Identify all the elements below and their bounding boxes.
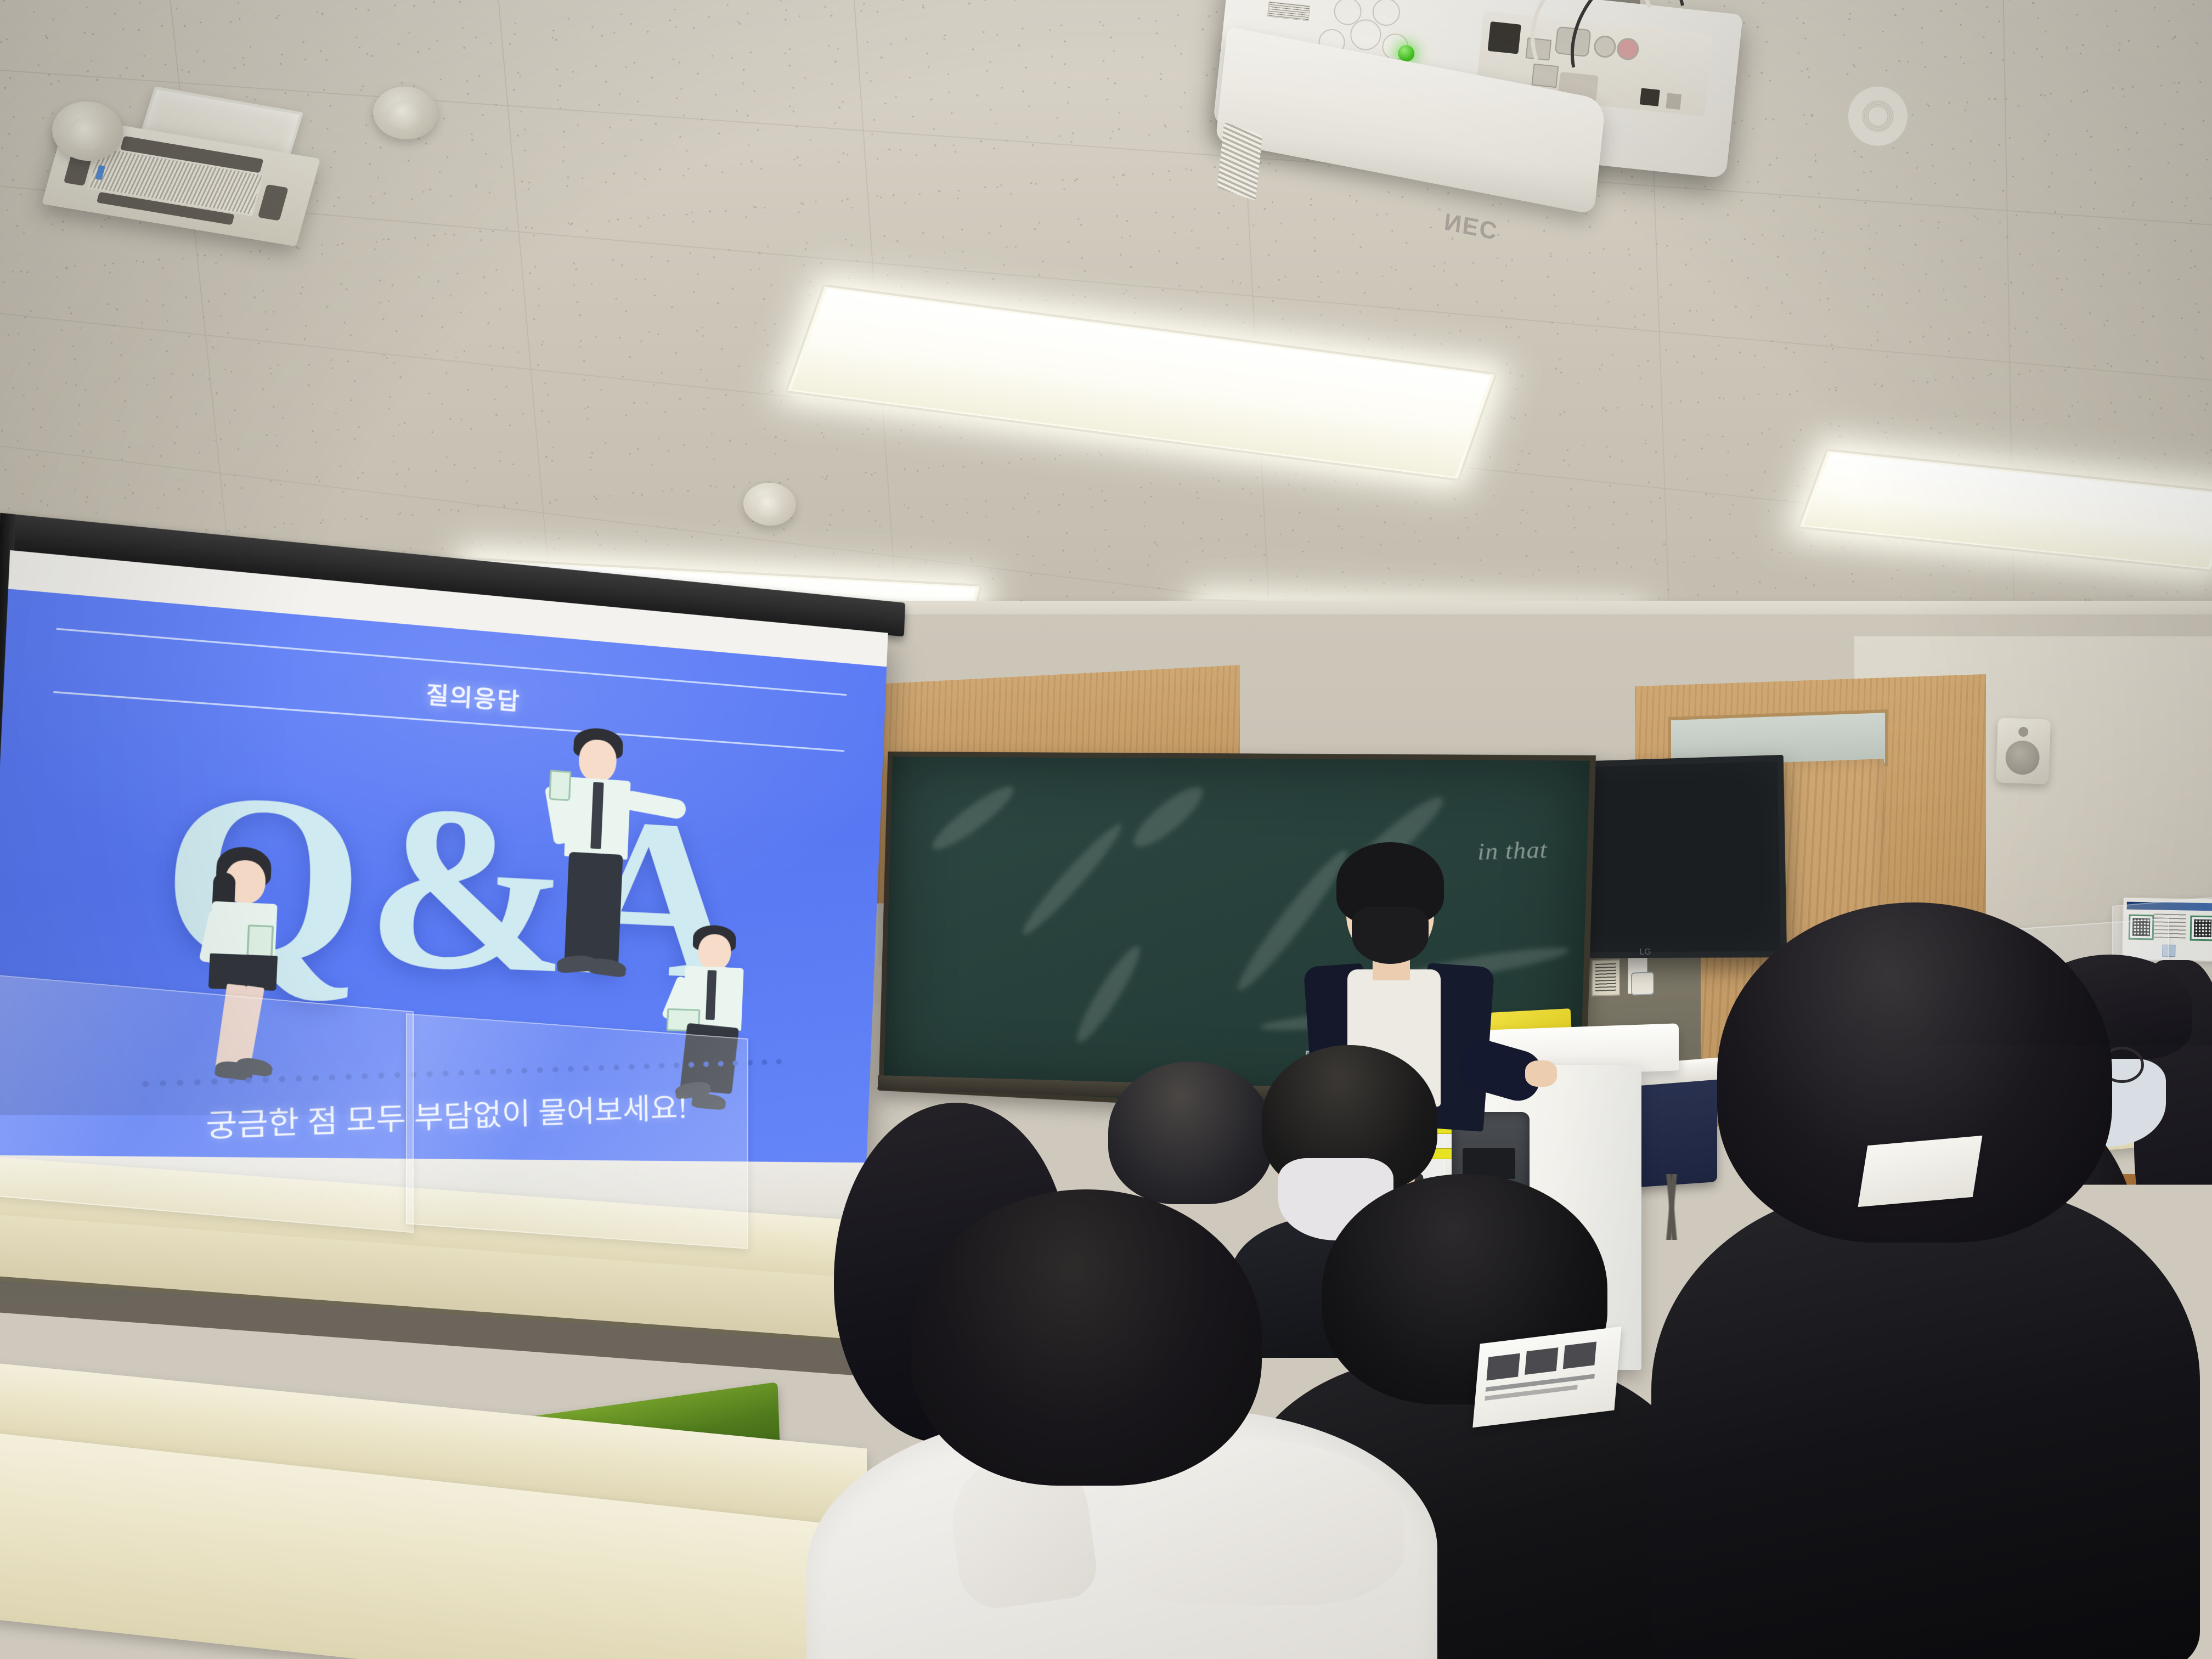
paper-sheet — [1858, 1136, 1983, 1207]
projector-label — [1267, 2, 1311, 21]
wall-speaker — [1996, 718, 2051, 784]
presenter-hand — [1525, 1060, 1557, 1087]
lecture-hall-photo: NEC LG — [0, 0, 2212, 1659]
student-foreground-hoodie — [806, 1189, 1437, 1659]
student-jacket — [1651, 1188, 2200, 1659]
wall-notice — [1592, 959, 1620, 996]
student-foreground-right — [1651, 902, 2200, 1659]
student-hair — [911, 1189, 1262, 1486]
acrylic-desk-divider — [0, 975, 414, 1233]
info-badge-icon — [1631, 972, 1654, 995]
projector-vent — [1217, 122, 1262, 201]
presenter-face-mask — [1352, 907, 1429, 964]
monitor-brand-label: LG — [1639, 947, 1651, 957]
acrylic-desk-divider — [406, 1013, 748, 1249]
